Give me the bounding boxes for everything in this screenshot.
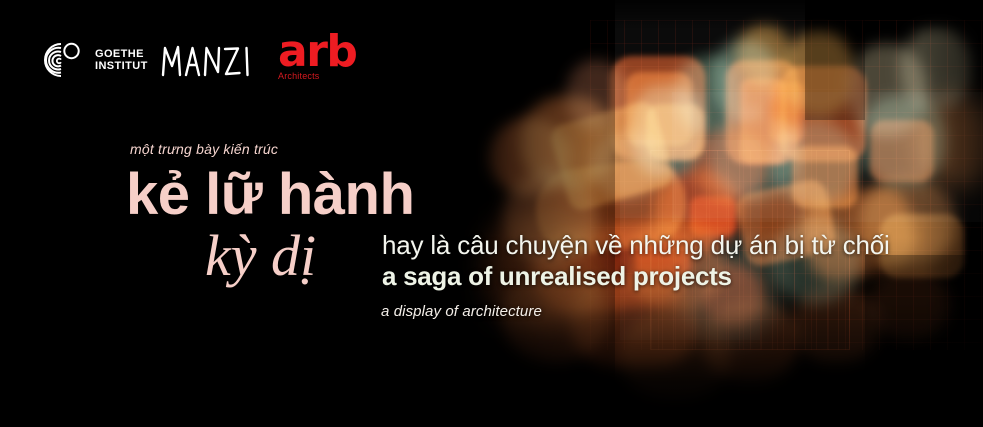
goethe-wordmark: GOETHE INSTITUT: [95, 48, 148, 73]
kicker-text: một trưng bày kiến trúc: [130, 141, 278, 157]
goethe-line1: GOETHE: [95, 48, 148, 61]
overlay-panel-dark: [805, 0, 865, 120]
arb-wordmark: arb: [278, 30, 374, 74]
subtitle-english: a saga of unrealised projects: [382, 261, 732, 291]
logo-manzi[interactable]: [160, 44, 252, 78]
logo-arb-architects[interactable]: arb Architects: [278, 30, 374, 88]
title-line-1: kẻ lữ hành: [126, 163, 414, 227]
overlay-panel-dark: [440, 0, 615, 427]
subtitle-vietnamese: hay là câu chuyện về những dự án bị từ c…: [382, 230, 890, 260]
artwork-collage: [440, 0, 983, 427]
sponsor-logo-row: GOETHE INSTITUT: [0, 0, 420, 110]
exhibition-poster: GOETHE INSTITUT: [0, 0, 983, 427]
overlay-panel-dark: [865, 255, 983, 375]
logo-goethe-institut[interactable]: GOETHE INSTITUT: [40, 38, 148, 82]
manzi-wordmark-icon: [160, 44, 252, 78]
tagline-text: a display of architecture: [381, 303, 542, 320]
artwork-canvas: [440, 0, 983, 427]
goethe-spiral-icon: [40, 38, 86, 82]
title-line-2: kỳ dị: [205, 224, 316, 288]
goethe-line2: INSTITUT: [95, 60, 148, 73]
